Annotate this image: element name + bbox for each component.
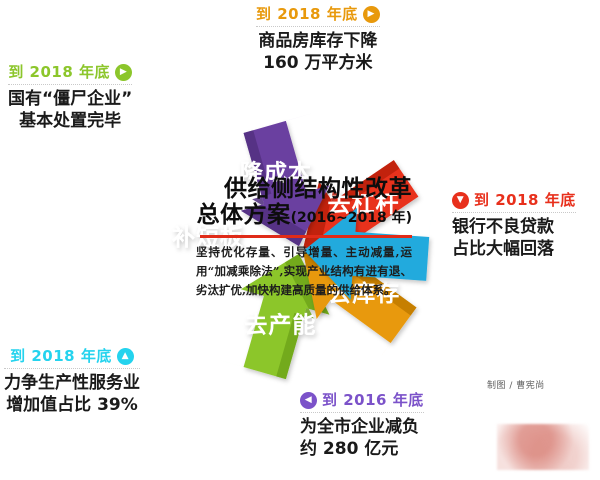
callout-date-text: 到 2018 年底 [256, 6, 358, 23]
arrow-label-qu-chan-neng: 去产能 [244, 311, 316, 338]
triangle-up-icon: ▲ [117, 348, 134, 365]
callout-text-qu-ku-cun: 商品房库存下降 160 万平方米 [256, 31, 380, 75]
callout-rule [256, 26, 380, 27]
callout-text-bu-duan-ban: 力争生产性服务业 增加值占比 39% [4, 373, 140, 417]
center-summary: 供给侧结构性改革 总体方案(2016~2018 年) 坚持优化存量、引导增量、主… [196, 176, 412, 299]
callout-line1: 商品房库存下降 [256, 31, 380, 53]
callout-date-jiang-cheng-ben: ◀ 到 2016 年底 [300, 392, 424, 409]
callout-bu-duan-ban[interactable]: 到 2018 年底 ▲ 力争生产性服务业 增加值占比 39% [4, 348, 140, 417]
callout-date-text: 到 2018 年底 [10, 348, 112, 365]
callout-qu-ku-cun[interactable]: 到 2018 年底 ▶ 商品房库存下降 160 万平方米 [256, 6, 380, 75]
callout-line1: 力争生产性服务业 [4, 373, 140, 395]
callout-date-bu-duan-ban: 到 2018 年底 ▲ [4, 348, 140, 365]
callout-line1: 银行不良贷款 [452, 217, 576, 239]
callout-line2: 占比大幅回落 [452, 239, 576, 261]
callout-date-qu-gang-gan: ▼ 到 2018 年底 [452, 192, 576, 209]
callout-text-qu-chan-neng: 国有“僵尸企业” 基本处置完毕 [8, 89, 132, 133]
callout-rule [4, 368, 140, 369]
watermark-blur [497, 424, 589, 470]
play-left-icon: ◀ [300, 392, 317, 409]
callout-jiang-cheng-ben[interactable]: ◀ 到 2016 年底 为全市企业减负 约 280 亿元 [300, 392, 424, 461]
title-divider [200, 235, 412, 238]
page-title-line2: 总体方案(2016~2018 年) [196, 202, 412, 228]
credit-text: 制图 / 曹宪尚 [487, 378, 545, 391]
callout-qu-gang-gan[interactable]: ▼ 到 2018 年底 银行不良贷款 占比大幅回落 [452, 192, 576, 261]
callout-line2: 约 280 亿元 [300, 439, 424, 461]
callout-line1: 国有“僵尸企业” [8, 89, 132, 111]
callout-date-text: 到 2018 年底 [474, 192, 576, 209]
page-title-line1: 供给侧结构性改革 [196, 176, 412, 202]
callout-rule [8, 84, 132, 85]
play-right-icon: ▶ [115, 64, 132, 81]
callout-line2: 160 万平方米 [256, 53, 380, 75]
summary-description: 坚持优化存量、引导增量、主动减量,运用“加减乘除法”,实现产业结构有进有退、劣汰… [196, 243, 412, 299]
callout-qu-chan-neng[interactable]: 到 2018 年底 ▶ 国有“僵尸企业” 基本处置完毕 [8, 64, 132, 133]
callout-line2: 增加值占比 39% [4, 395, 140, 417]
callout-line1: 为全市企业减负 [300, 417, 424, 439]
callout-line2: 基本处置完毕 [8, 111, 132, 133]
infographic-canvas: 去产能 去库存 去杠杆 [0, 0, 600, 480]
callout-text-qu-gang-gan: 银行不良贷款 占比大幅回落 [452, 217, 576, 261]
callout-date-text: 到 2018 年底 [8, 64, 110, 81]
callout-date-qu-chan-neng: 到 2018 年底 ▶ [8, 64, 132, 81]
triangle-down-icon: ▼ [452, 192, 469, 209]
callout-date-qu-ku-cun: 到 2018 年底 ▶ [256, 6, 380, 23]
callout-rule [300, 412, 424, 413]
callout-text-jiang-cheng-ben: 为全市企业减负 约 280 亿元 [300, 417, 424, 461]
callout-date-text: 到 2016 年底 [322, 392, 424, 409]
page-title-line2-text: 总体方案 [197, 202, 291, 228]
title-period: (2016~2018 年) [291, 211, 412, 227]
callout-rule [452, 212, 576, 213]
play-right-icon: ▶ [363, 6, 380, 23]
